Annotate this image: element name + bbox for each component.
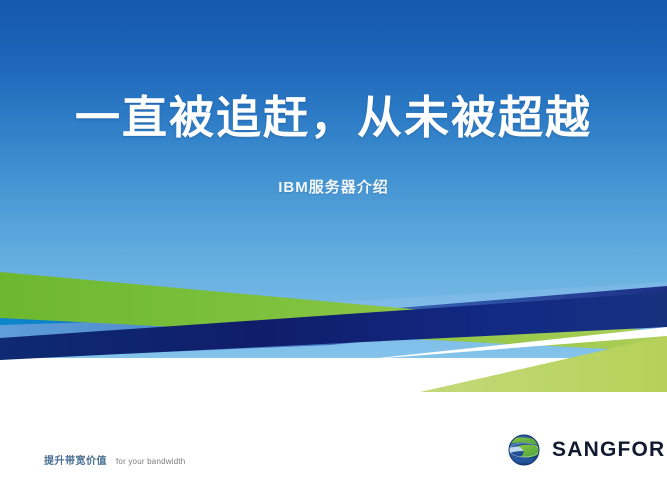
footer-tagline: 提升带宽价值 for your bandwidth: [44, 452, 185, 467]
slide-title: 一直被追赶，从未被超越: [0, 92, 667, 145]
decorative-wave-graphic: [0, 0, 667, 500]
tagline-english: for your bandwidth: [116, 457, 185, 466]
globe-icon: [504, 430, 544, 470]
brand-logo: SANGFOR: [504, 430, 665, 470]
brand-name: SANGFOR: [552, 438, 665, 462]
slide-subtitle: IBM服务器介绍: [0, 176, 667, 197]
tagline-chinese: 提升带宽价值: [44, 452, 107, 467]
title-block: 一直被追赶，从未被超越: [0, 92, 667, 145]
presentation-slide: 一直被追赶，从未被超越 IBM服务器介绍 提升带宽价值 for your ban…: [0, 0, 667, 500]
